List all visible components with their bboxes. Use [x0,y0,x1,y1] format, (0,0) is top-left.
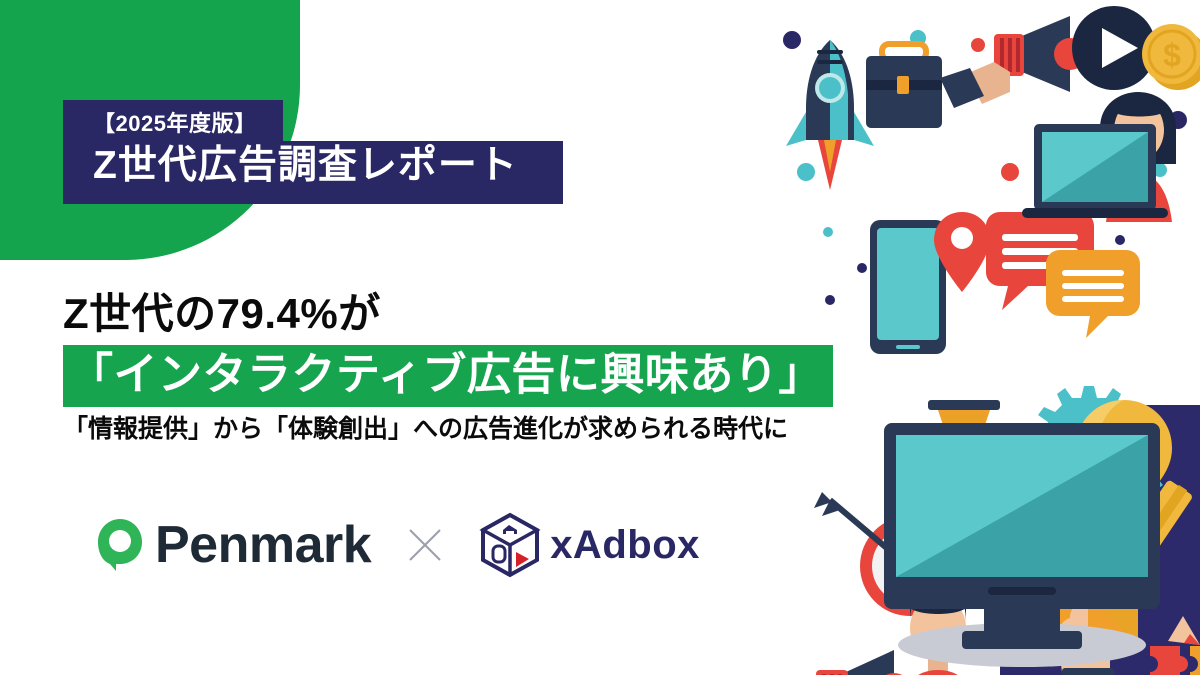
penmark-bubble-icon [96,517,144,573]
headline-stat-line: Z世代の79.4%が [63,290,833,337]
xadbox-logo[interactable]: xAdbox [479,512,700,578]
poster-canvas: $ [0,0,1200,675]
badge-kicker-text: 【2025年度版】 [93,112,257,136]
logo-lockup: Penmark xAdbox [96,512,700,578]
briefcase-icon [866,44,942,128]
logo-separator-x-icon [405,525,445,565]
adbox-cube-icon [479,512,541,578]
rocket-icon [786,40,874,190]
badge-kicker-row: 【2025年度版】 [63,100,283,142]
woman-avatar-icon [1100,92,1176,222]
speech-bubbles-icon [986,212,1140,338]
desktop-monitor-icon [872,417,1172,667]
laptop-icon [1022,124,1168,218]
play-button-icon [1072,6,1156,90]
penmark-logo[interactable]: Penmark [96,517,371,573]
smartphone-icon [870,220,946,354]
dollar-coin-icon: $ [1142,24,1200,90]
title-badge: 【2025年度版】 Z世代広告調査レポート [63,100,563,204]
headline-highlight-band: 「インタラクティブ広告に興味あり」 [63,345,833,407]
headline-block: Z世代の79.4%が 「インタラクティブ広告に興味あり」 「情報提供」から「体験… [63,290,833,446]
location-pin-icon [934,212,990,292]
badge-title-row: Z世代広告調査レポート [63,141,563,204]
penmark-wordmark: Penmark [155,519,371,571]
megaphone-hand-icon [940,16,1086,108]
svg-text:$: $ [1163,37,1181,73]
page-title: Z世代広告調査レポート [93,143,537,190]
headline-subtitle: 「情報提供」から「体験創出」への広告進化が求められる時代に [63,414,833,445]
xadbox-wordmark: xAdbox [550,525,700,565]
